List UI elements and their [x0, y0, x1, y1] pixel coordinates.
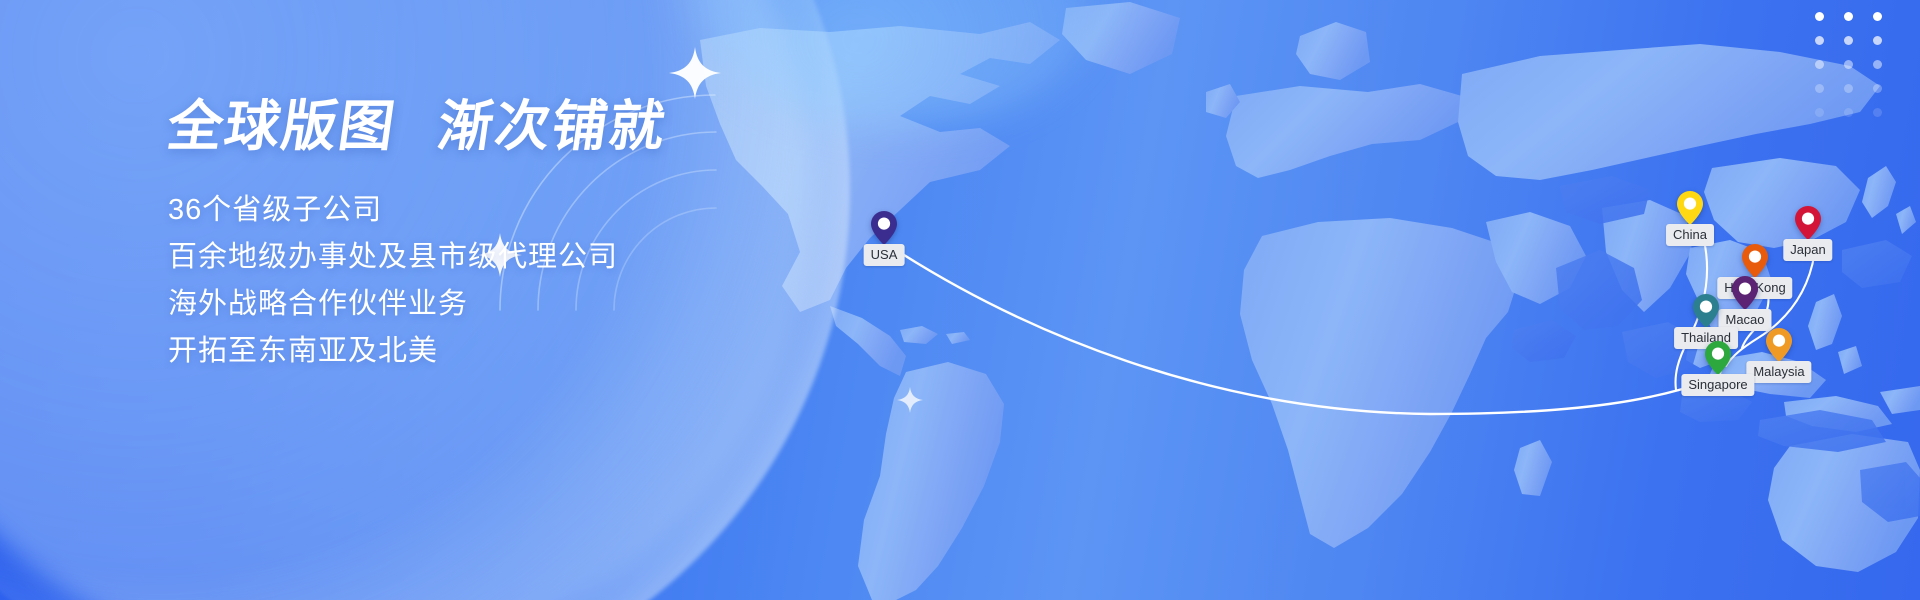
map-marker-usa[interactable]: USA	[871, 211, 897, 245]
location-pin-icon[interactable]	[1742, 244, 1768, 278]
marker-label: China	[1666, 224, 1714, 246]
banner-copy: 全球版图 渐次铺就 36个省级子公司 百余地级办事处及县市级代理公司 海外战略合…	[168, 96, 666, 375]
map-marker-singapore[interactable]: Singapore	[1705, 341, 1731, 375]
location-pin-icon[interactable]	[1795, 206, 1821, 240]
marker-label: Malaysia	[1746, 361, 1811, 383]
dot-grid-decoration	[1815, 12, 1882, 117]
list-item: 36个省级子公司	[168, 187, 666, 234]
page-title: 全球版图 渐次铺就	[164, 96, 671, 157]
location-pin-icon[interactable]	[1693, 294, 1719, 328]
map-marker-hongkong[interactable]: HongKong	[1742, 244, 1768, 278]
marker-label: USA	[864, 244, 905, 266]
marker-label: Japan	[1783, 239, 1832, 261]
map-marker-malaysia[interactable]: Malaysia	[1766, 328, 1792, 362]
global-map-banner: 全球版图 渐次铺就 36个省级子公司 百余地级办事处及县市级代理公司 海外战略合…	[0, 0, 1920, 600]
map-marker-japan[interactable]: Japan	[1795, 206, 1821, 240]
list-item: 百余地级办事处及县市级代理公司	[168, 234, 666, 281]
marker-label: Singapore	[1681, 374, 1754, 396]
list-item: 开拓至东南亚及北美	[168, 328, 666, 375]
location-pin-icon[interactable]	[1766, 328, 1792, 362]
location-pin-icon[interactable]	[1677, 191, 1703, 225]
map-marker-china[interactable]: China	[1677, 191, 1703, 225]
location-pin-icon[interactable]	[1705, 341, 1731, 375]
map-marker-macao[interactable]: Macao	[1732, 276, 1758, 310]
banner-bullet-list: 36个省级子公司 百余地级办事处及县市级代理公司 海外战略合作伙伴业务 开拓至东…	[168, 187, 666, 375]
map-marker-thailand[interactable]: Thailand	[1693, 294, 1719, 328]
list-item: 海外战略合作伙伴业务	[168, 281, 666, 328]
location-pin-icon[interactable]	[1732, 276, 1758, 310]
location-pin-icon[interactable]	[871, 211, 897, 245]
